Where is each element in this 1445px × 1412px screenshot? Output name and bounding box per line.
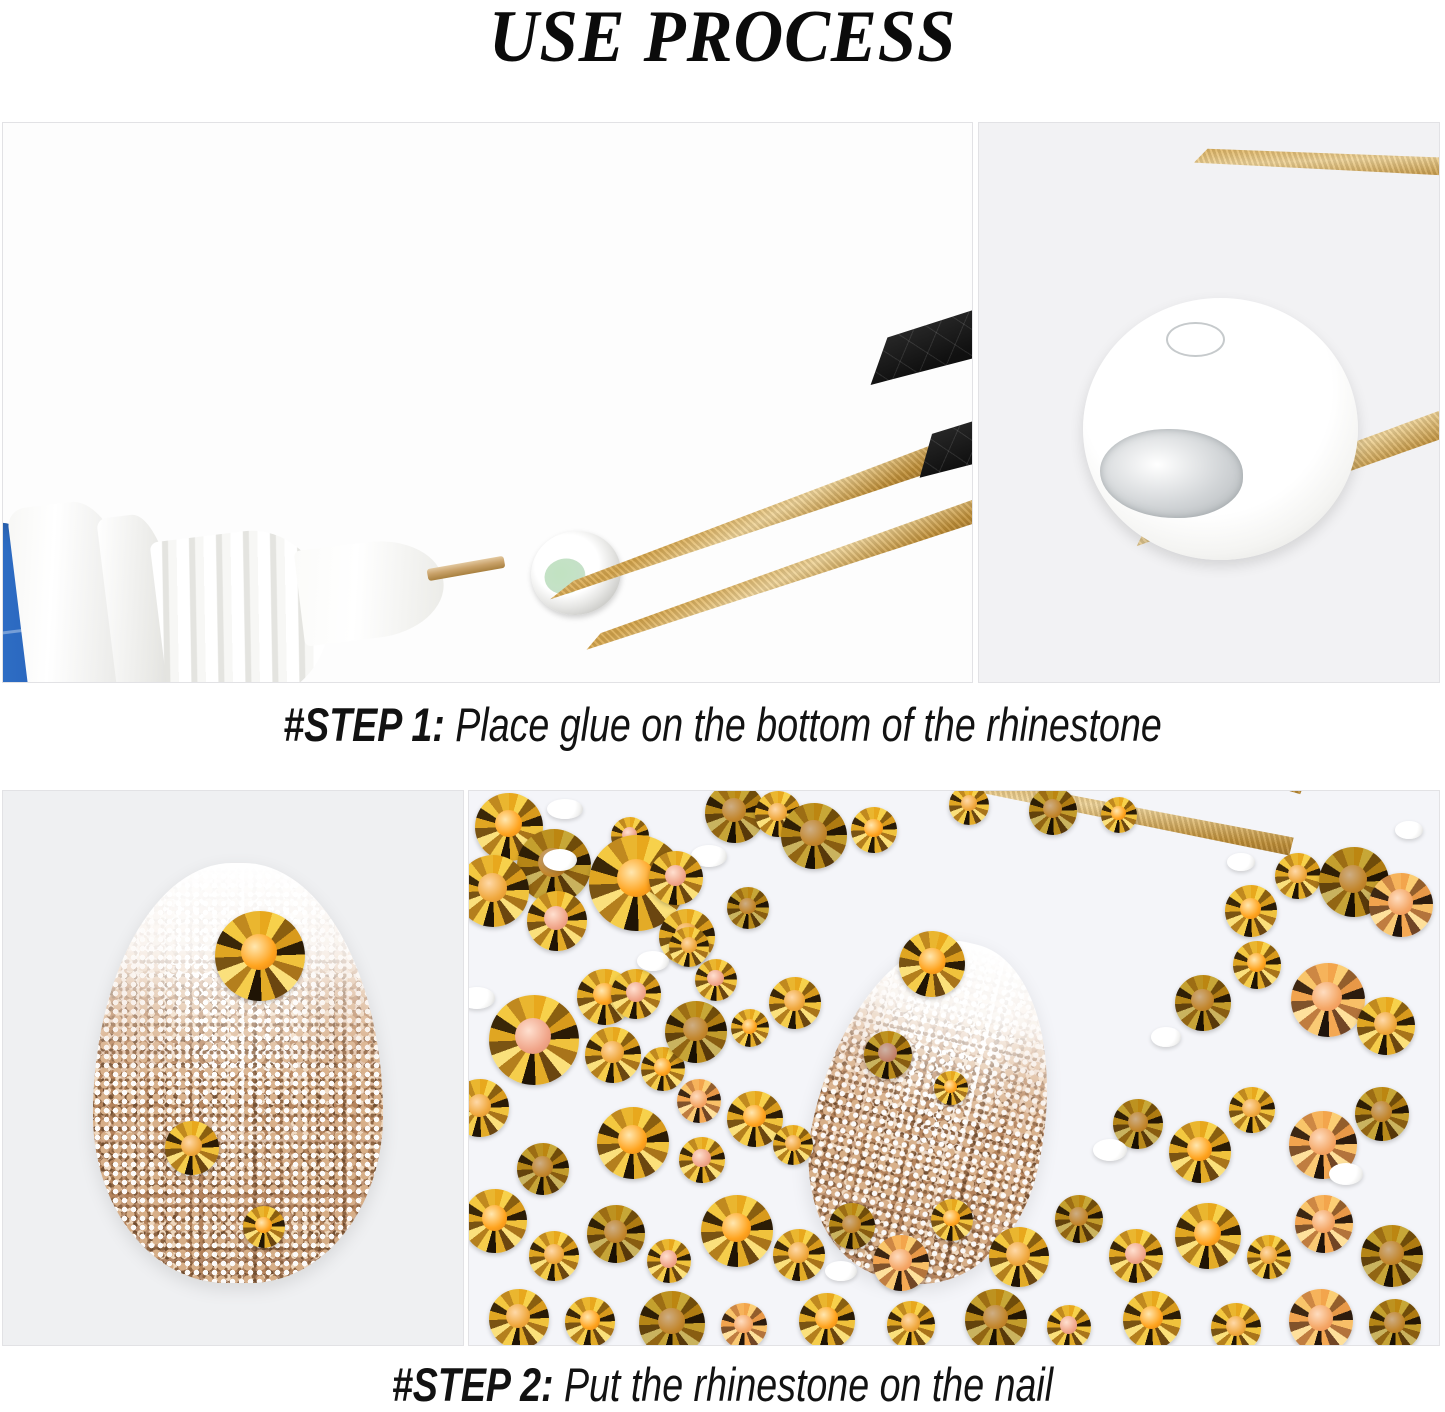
rhinestone-icon (468, 1189, 527, 1253)
rhinestone-icon-small (243, 1206, 285, 1248)
rhinestone-icon (1355, 1087, 1409, 1141)
rhinestone-icon (989, 1227, 1049, 1287)
rhinestone-icon (769, 977, 821, 1029)
rhinestone-icon (1123, 1291, 1181, 1346)
rhinestone-icon (1369, 1299, 1421, 1346)
glue-bottle-icon (2, 451, 505, 683)
rhinestone-icon-on-nail-mid (864, 1031, 912, 1079)
rhinestone-icon (611, 969, 661, 1019)
rhinestone-icon (1169, 1121, 1231, 1183)
tweezer-knurl-texture (1194, 122, 1440, 205)
rhinestone-icon (1229, 1087, 1275, 1133)
glue-bottle-tip (294, 534, 450, 647)
rhinestone-icon (1295, 1195, 1353, 1253)
rhinestone-icon (721, 1303, 767, 1346)
rhinestone-icon (887, 1301, 935, 1346)
step-2-text: Put the rhinestone on the nail (554, 1358, 1054, 1411)
rhinestone-icon (1211, 1303, 1261, 1346)
rhinestone-icon (1055, 1195, 1103, 1243)
rhinestone-icon (669, 927, 709, 967)
rhinestone-icon-large (215, 911, 305, 1001)
rhinestone-icon (695, 959, 737, 1001)
rhinestone-icon (587, 1205, 645, 1263)
rhinestone-icon (965, 1289, 1027, 1346)
rhinestone-icon (727, 887, 769, 929)
rhinestone-icon (1275, 853, 1321, 899)
rhinestone-icon (701, 1195, 773, 1267)
rhinestone-icon (773, 1229, 825, 1281)
rhinestone-back-icon (637, 951, 669, 971)
step-2-caption: #STEP 2: Put the rhinestone on the nail (145, 1357, 1301, 1412)
rhinestone-back-icon (547, 799, 583, 819)
rhinestone-back-icon (1151, 1027, 1181, 1047)
rhinestone-back-icon (1329, 1163, 1363, 1185)
rhinestone-icon (1175, 1203, 1241, 1269)
tweezer-grip-upper (858, 255, 973, 431)
rhinestone-icon (1369, 873, 1433, 937)
rhinestone-icon (1289, 1289, 1353, 1346)
rhinestone-icon (1101, 797, 1137, 833)
rhinestone-icon (1357, 997, 1415, 1055)
rhinestone-icon (873, 1235, 929, 1291)
step-1-label: #STEP 1: (283, 698, 445, 751)
rhinestone-icon (931, 1199, 973, 1241)
panel-rhinestones-scattered-with-nail (468, 790, 1440, 1346)
step-1-caption: #STEP 1: Place glue on the bottom of the… (145, 697, 1301, 752)
rhinestone-icon (517, 1143, 569, 1195)
rhinestone-icon (679, 1137, 725, 1183)
rhinestone-icon-on-nail-low (934, 1071, 968, 1105)
rhinestone-icon (773, 1125, 813, 1165)
rhinestone-icon (649, 851, 703, 905)
rhinestone-icon (565, 1297, 615, 1346)
rhinestone-icon (597, 1107, 669, 1179)
rhinestone-back-icon (1395, 821, 1423, 839)
page-title: USE PROCESS (51, 0, 1395, 80)
tweezers-icon-upper-tip (1194, 122, 1440, 205)
rhinestone-back-icon (468, 987, 495, 1009)
rhinestone-icon (1029, 790, 1077, 835)
rhinestone-icon (799, 1293, 855, 1346)
rhinestone-icon (829, 1203, 875, 1249)
rhinestone-icon (781, 803, 847, 869)
rhinestone-icon (647, 1239, 691, 1283)
rhinestone-icon (1225, 885, 1277, 937)
rhinestone-icon (1047, 1305, 1091, 1346)
panel-rhinestone-back-closeup (978, 122, 1440, 683)
rhinestone-icon (1109, 1229, 1163, 1283)
tweezer-grip-pattern (858, 255, 973, 431)
rhinestone-icon (468, 1079, 509, 1137)
rhinestone-icon (529, 1231, 579, 1281)
tweezer-grip-lower (907, 353, 973, 520)
rhinestone-icon (1233, 941, 1281, 989)
rhinestone-back-icon (825, 1261, 857, 1281)
infographic-page: USE PROCESS (0, 0, 1445, 1412)
rhinestone-icon (1291, 963, 1365, 1037)
rhinestone-icon (949, 790, 989, 825)
rhinestone-back-icon (1227, 853, 1255, 871)
rhinestone-icon (1361, 1225, 1423, 1287)
rhinestone-back-icon (1093, 1139, 1127, 1161)
panel-finished-nail (2, 790, 464, 1346)
step-2-label: #STEP 2: (392, 1358, 554, 1411)
rhinestone-icon (489, 1289, 549, 1346)
rhinestone-icon (1247, 1235, 1291, 1279)
glue-bottle-needle (427, 556, 506, 581)
rhinestone-icon-medium (165, 1121, 219, 1175)
rhinestone-glue-back-icon (1083, 298, 1358, 560)
rhinestone-icon (665, 1001, 727, 1063)
rhinestone-icon (527, 891, 587, 951)
rhinestone-icon (677, 1079, 721, 1123)
panel-glue-applied-to-rhinestone (2, 122, 973, 683)
rhinestone-icon (585, 1027, 641, 1083)
rhinestone-icon (851, 807, 897, 853)
tweezer-grip-pattern (907, 353, 973, 520)
rhinestone-icon (1175, 975, 1231, 1031)
rhinestone-back-icon (543, 849, 577, 871)
step-1-text: Place glue on the bottom of the rhinesto… (445, 698, 1162, 751)
rhinestone-icon-large (489, 995, 579, 1085)
rhinestone-icon (639, 1291, 705, 1346)
rhinestone-icon (731, 1009, 769, 1047)
